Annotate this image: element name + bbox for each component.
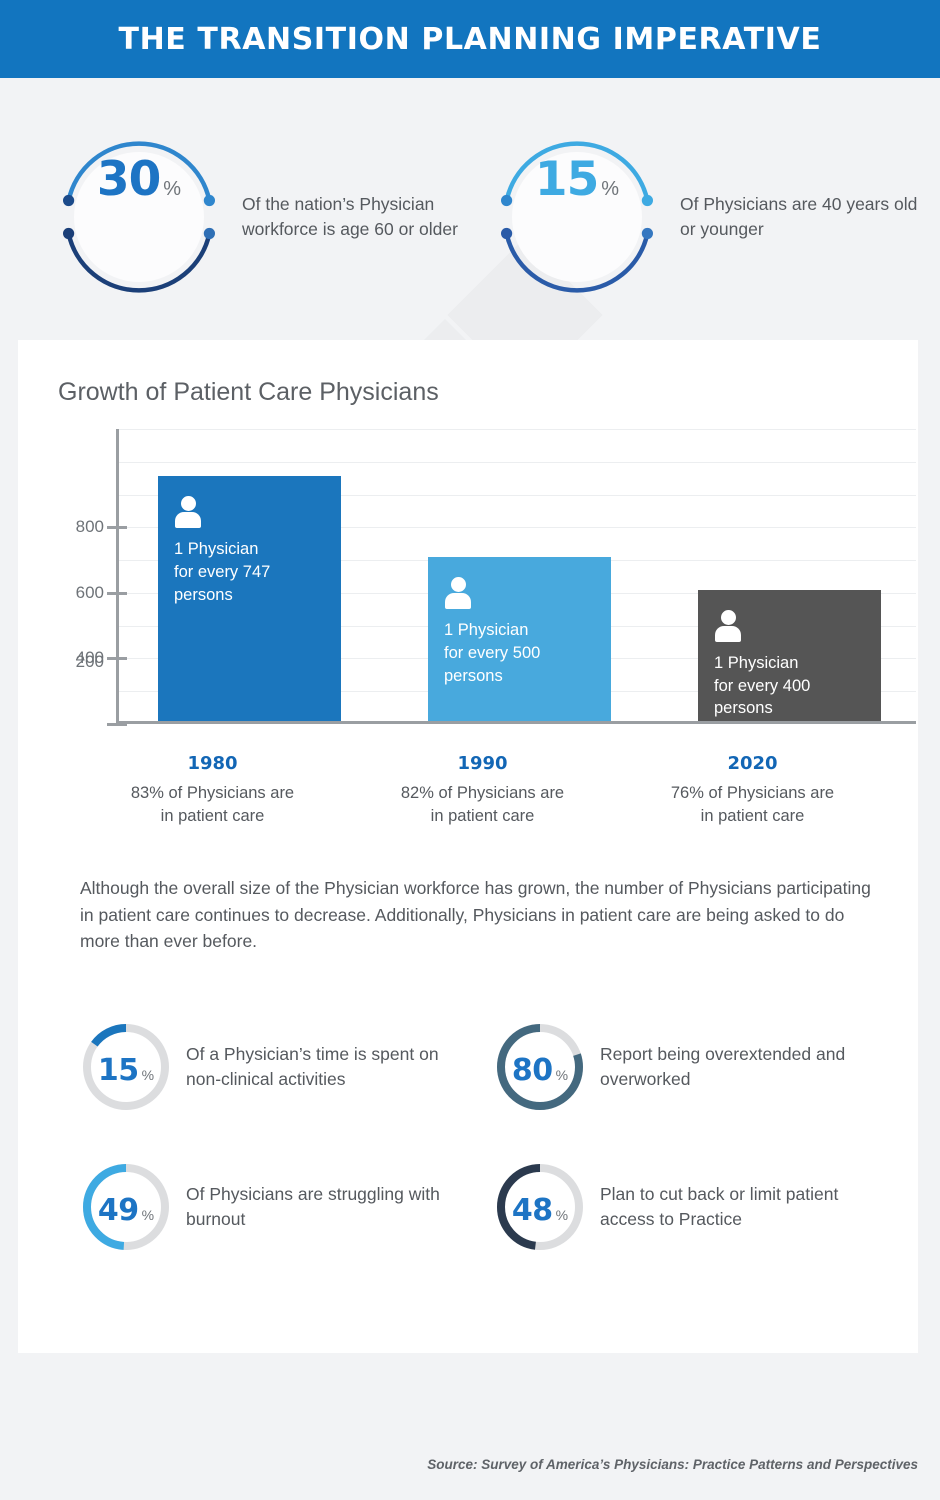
donut-percent-symbol-48: %: [556, 1207, 568, 1223]
donut-center-48: 48 %: [494, 1161, 586, 1253]
y-tick-label-200: 200: [58, 652, 104, 672]
bottom-stats-grid: 15 % Of a Physician’s time is spent on n…: [58, 1021, 878, 1301]
bottom-stat-label-15: Of a Physician’s time is spent on non-cl…: [186, 1042, 468, 1092]
source-footer: Source: Survey of America’s Physicians: …: [427, 1457, 918, 1472]
y-axis-labels: 800 600 400 200: [58, 429, 104, 724]
bar-ratio-text-1990: 1 Physician for every 500 persons: [444, 619, 595, 687]
x-group-1980: 1980 83% of Physicians are in patient ca…: [100, 753, 325, 828]
arc-ring-15: 15 %: [490, 130, 664, 304]
bottom-stat-48: 48 % Plan to cut back or limit patient a…: [468, 1161, 878, 1253]
bottom-stat-label-48: Plan to cut back or limit patient access…: [600, 1182, 878, 1232]
arc-ring-30: 30 %: [52, 130, 226, 304]
donut-80: 80 %: [494, 1021, 586, 1113]
donut-center-15: 15 %: [80, 1021, 172, 1113]
x-caption-1980: 83% of Physicians are in patient care: [100, 782, 325, 828]
donut-49: 49 %: [80, 1161, 172, 1253]
bar-ratio-text-2020: 1 Physician for every 400 persons: [714, 652, 865, 720]
donut-value-48: 48: [512, 1193, 553, 1228]
arc-center-15: 15 %: [512, 152, 642, 282]
plot-area: 1 Physician for every 747 persons 1 Phys…: [116, 429, 916, 724]
bar-2020: 1 Physician for every 400 persons: [698, 590, 881, 721]
main-content-card: Growth of Patient Care Physicians 800 60…: [18, 340, 918, 1353]
donut-48: 48 %: [494, 1161, 586, 1253]
x-axis-labels: 1980 83% of Physicians are in patient ca…: [58, 753, 878, 829]
chart-title: Growth of Patient Care Physicians: [58, 378, 878, 407]
stat-value-30: 30: [97, 152, 160, 207]
top-stat-30: 30 % Of the nation’s Physician workforce…: [0, 130, 470, 304]
stat-percent-symbol-30: %: [163, 178, 181, 201]
bar-ratio-text-1980: 1 Physician for every 747 persons: [174, 538, 325, 606]
bottom-stat-label-80: Report being overextended and overworked: [600, 1042, 878, 1092]
bar-1980: 1 Physician for every 747 persons: [158, 476, 341, 721]
donut-center-49: 49 %: [80, 1161, 172, 1253]
body-paragraph: Although the overall size of the Physici…: [80, 875, 874, 955]
donut-center-80: 80 %: [494, 1021, 586, 1113]
person-icon: [444, 577, 472, 607]
y-tick-label-600: 600: [58, 583, 104, 603]
donut-15: 15 %: [80, 1021, 172, 1113]
stat-percent-symbol-15: %: [601, 178, 619, 201]
bottom-stat-label-49: Of Physicians are struggling with burnou…: [186, 1182, 468, 1232]
donut-value-15: 15: [98, 1053, 139, 1088]
bottom-stat-49: 49 % Of Physicians are struggling with b…: [58, 1161, 468, 1253]
top-stat-15: 15 % Of Physicians are 40 years old or y…: [470, 130, 940, 304]
y-axis-line: [116, 429, 119, 724]
bottom-stat-80: 80 % Report being overextended and overw…: [468, 1021, 878, 1113]
person-icon: [714, 610, 742, 640]
arc-center-30: 30 %: [74, 152, 204, 282]
top-stats-row: 30 % Of the nation’s Physician workforce…: [0, 78, 940, 304]
donut-percent-symbol-80: %: [556, 1067, 568, 1083]
donut-value-80: 80: [512, 1053, 553, 1088]
donut-percent-symbol-15: %: [142, 1067, 154, 1083]
bar-chart: 800 600 400 200: [58, 429, 878, 739]
y-tick-label-800: 800: [58, 517, 104, 537]
x-group-1990: 1990 82% of Physicians are in patient ca…: [370, 753, 595, 828]
donut-value-49: 49: [98, 1193, 139, 1228]
header-bar: THE TRANSITION PLANNING IMPERATIVE: [0, 0, 940, 78]
x-axis-line: [116, 721, 916, 724]
page-title: THE TRANSITION PLANNING IMPERATIVE: [119, 22, 822, 57]
person-icon: [174, 496, 202, 526]
donut-percent-symbol-49: %: [142, 1207, 154, 1223]
x-group-2020: 2020 76% of Physicians are in patient ca…: [640, 753, 865, 828]
x-year-1990: 1990: [370, 753, 595, 774]
x-caption-1990: 82% of Physicians are in patient care: [370, 782, 595, 828]
top-stat-label-15: Of Physicians are 40 years old or younge…: [680, 192, 930, 242]
x-caption-2020: 76% of Physicians are in patient care: [640, 782, 865, 828]
top-stat-label-30: Of the nation’s Physician workforce is a…: [242, 192, 470, 242]
x-year-1980: 1980: [100, 753, 325, 774]
stat-value-15: 15: [535, 152, 598, 207]
x-year-2020: 2020: [640, 753, 865, 774]
bar-1990: 1 Physician for every 500 persons: [428, 557, 611, 721]
bottom-stat-15: 15 % Of a Physician’s time is spent on n…: [58, 1021, 468, 1113]
